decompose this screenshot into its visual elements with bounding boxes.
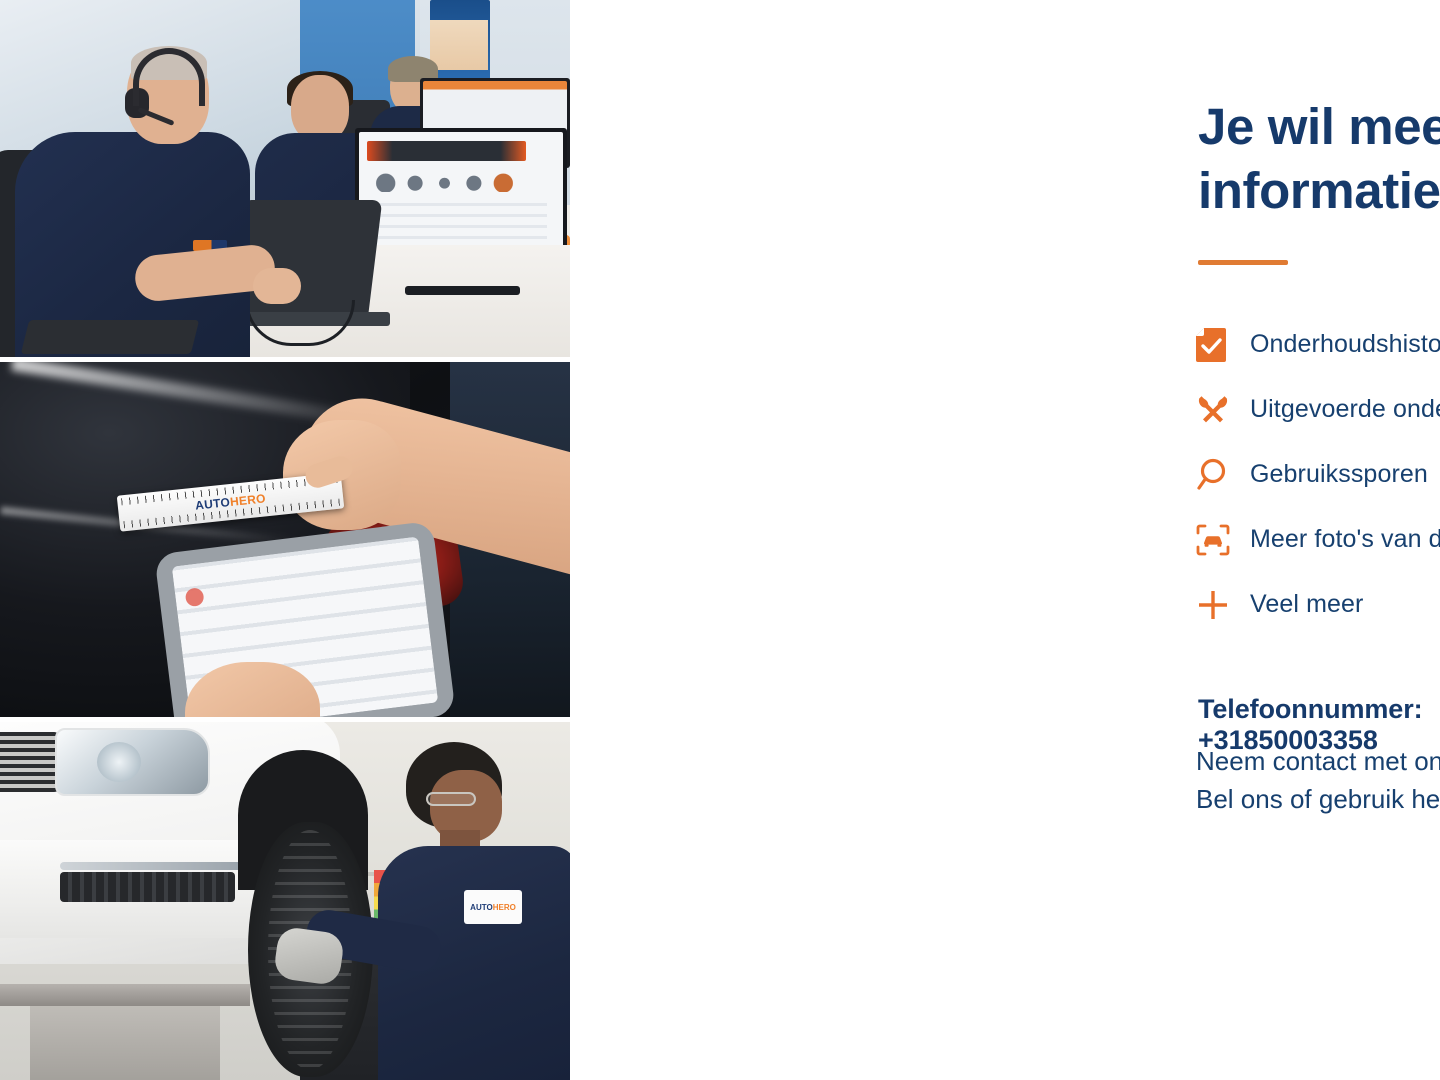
front-monitor [355, 128, 567, 262]
list-item: Veel meer [1196, 572, 1440, 637]
call-center-agents-photo [0, 0, 570, 357]
agent-1-hand [253, 268, 301, 304]
car-headlight [55, 728, 210, 796]
screen-car-thumbnails [371, 170, 518, 193]
shirt-badge-hero: HERO [493, 903, 516, 912]
magnifier-icon [1196, 458, 1250, 492]
bumper-vent [60, 872, 235, 902]
title-divider [1198, 260, 1288, 265]
car-grille [0, 732, 60, 792]
shirt-autohero-badge: AUTOHERO [464, 890, 522, 924]
mechanic-wheel-photo: AUTOHERO [0, 722, 570, 1080]
list-item-label: Onderhoudshistorie [1250, 330, 1440, 359]
list-item-label: Meer foto's van de auto [1250, 525, 1440, 554]
car-scan-icon [1196, 524, 1250, 556]
agent-1 [15, 40, 245, 357]
photo-1-scene [0, 0, 570, 357]
list-item: Uitgevoerde onderhoudswerkzaamheden [1196, 377, 1440, 442]
plus-icon [1196, 588, 1250, 622]
list-item-label: Veel meer [1250, 590, 1363, 619]
page-title: Je wil meer informatie over: [1198, 95, 1440, 224]
feature-list: Onderhoudshistorie Uitgevoerde onderhoud… [1196, 312, 1440, 637]
headline-line-2: informatie over: [1198, 159, 1440, 223]
content-panel: Je wil meer informatie over: Onderhoudsh… [570, 0, 1440, 1080]
contact-text-line-1: Neem contact met ons op voor meer inform… [1196, 742, 1440, 780]
photo-3-scene: AUTOHERO [0, 722, 570, 1080]
list-item: Meer foto's van de auto [1196, 507, 1440, 572]
list-item: Onderhoudshistorie [1196, 312, 1440, 377]
list-item: Gebruikssporen [1196, 442, 1440, 507]
ruler-logo-auto: AUTO [195, 495, 231, 513]
screen-header-bar [367, 141, 526, 161]
monitor-base [405, 286, 520, 295]
contact-text-line-2: Bel ons of gebruik het contactformulier. [1196, 780, 1440, 818]
car-inspection-ruler-photo: AUTOHERO [0, 362, 570, 717]
car-lift-arm [0, 984, 250, 1006]
bumper-chrome-trim [60, 862, 245, 870]
tablet-app-icon [185, 587, 205, 607]
front-monitor-screen [359, 132, 563, 258]
photo-2-scene: AUTOHERO [0, 362, 570, 717]
photo-column: AUTOHERO [0, 0, 570, 1080]
promo-page: AUTOHERO [0, 0, 1440, 1080]
screen-text-rows [371, 203, 546, 248]
document-check-icon [1196, 328, 1250, 362]
car-lift-base [30, 1006, 220, 1080]
shirt-badge-auto: AUTO [470, 903, 493, 912]
list-item-label: Uitgevoerde onderhoudswerkzaamheden [1250, 395, 1440, 424]
ruler-logo-hero: HERO [229, 491, 266, 509]
mechanic: AUTOHERO [378, 742, 570, 1080]
list-item-label: Gebruikssporen [1250, 460, 1428, 489]
contact-text: Neem contact met ons op voor meer inform… [1196, 742, 1440, 819]
headline-line-1: Je wil meer [1198, 95, 1440, 159]
mechanic-glasses [426, 792, 476, 806]
desk-tablet [21, 320, 199, 354]
tools-wrench-screwdriver-icon [1196, 393, 1250, 427]
headlight-lens [97, 742, 141, 782]
